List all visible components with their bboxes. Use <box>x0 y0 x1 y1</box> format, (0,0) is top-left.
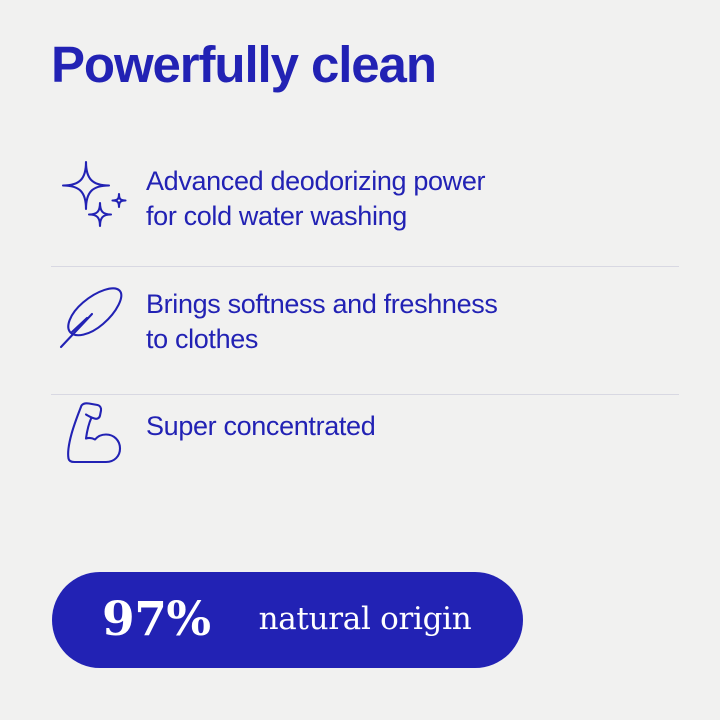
feature-line-1: Brings softness and freshness <box>146 289 498 319</box>
feature-item-concentrated: Super concentrated <box>50 395 680 481</box>
feature-item-deodorizing: Advanced deodorizing power for cold wate… <box>50 152 680 266</box>
feature-line-2: to clothes <box>146 324 258 354</box>
sparkles-icon <box>50 152 146 230</box>
feature-item-softness: Brings softness and freshness to clothes <box>50 267 680 394</box>
product-benefits-panel: Powerfully clean Advanced deodorizing po… <box>0 0 720 720</box>
feature-text-softness: Brings softness and freshness to clothes <box>146 267 498 357</box>
feature-text-deodorizing: Advanced deodorizing power for cold wate… <box>146 152 485 234</box>
badge-percent-value: 97% <box>102 596 211 643</box>
feature-line-2: for cold water washing <box>146 201 407 231</box>
badge-label: natural origin <box>259 604 472 635</box>
feather-icon <box>50 267 146 355</box>
feature-list: Advanced deodorizing power for cold wate… <box>50 152 680 481</box>
feature-text-concentrated: Super concentrated <box>146 395 375 444</box>
flexed-bicep-icon <box>50 395 146 472</box>
natural-origin-badge: 97% natural origin <box>52 572 523 668</box>
feature-line-1: Super concentrated <box>146 411 375 441</box>
feature-line-1: Advanced deodorizing power <box>146 166 485 196</box>
page-title: Powerfully clean <box>51 36 436 94</box>
